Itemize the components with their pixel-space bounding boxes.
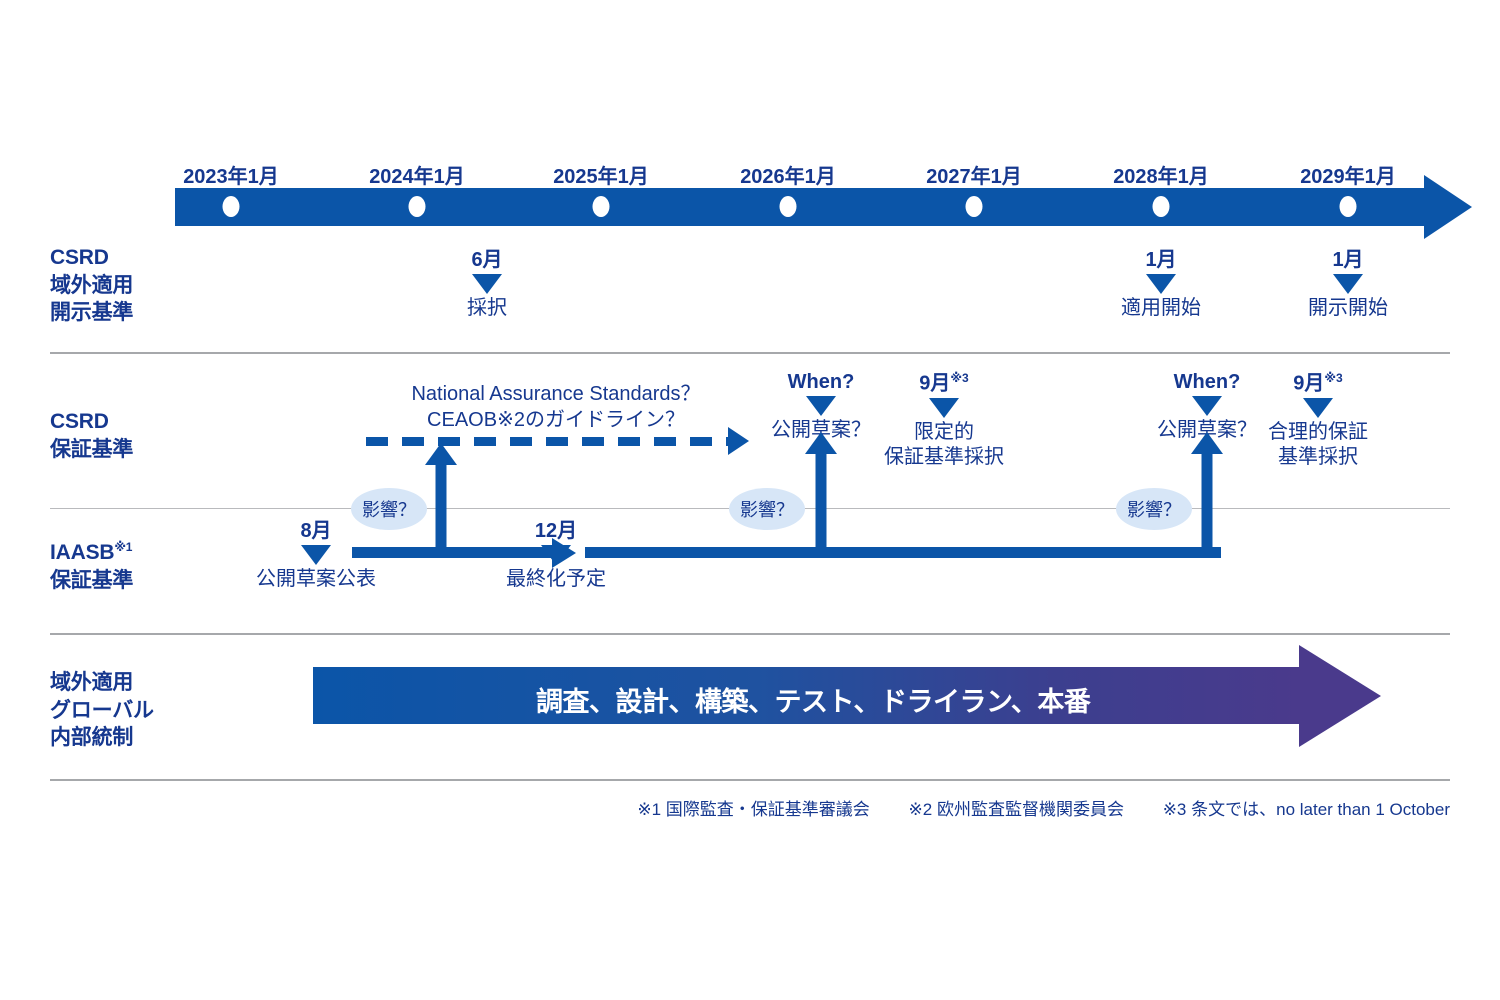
triangle-down-icon: [1146, 274, 1176, 294]
timeline-tick-label-2024: 2024年1月: [369, 160, 465, 189]
footnote-ref-1: ※1: [114, 540, 132, 554]
event-marker-finalization-planned: 12月 最終化予定: [506, 521, 606, 593]
timeline-tick-dot-2023: [223, 196, 240, 217]
global-program-arrow-head: [1299, 645, 1381, 747]
row-label-csrd-assurance: CSRD 保証基準: [50, 408, 133, 463]
footnote-1: ※1 国際監査・保証基準審議会: [637, 800, 869, 819]
triangle-down-icon: [301, 545, 331, 565]
event-marker-adoption: 6月 採択: [467, 250, 507, 322]
footnotes: ※1 国際監査・保証基準審議会 ※2 欧州監査監督機関委員会 ※3 条文では、n…: [50, 795, 1450, 820]
event-date-disclosure-start: 1月: [1308, 250, 1388, 271]
event-label-limited-assurance: 限定的 保証基準採択: [884, 420, 1004, 471]
triangle-down-icon: [1303, 398, 1333, 418]
triangle-down-icon: [1333, 274, 1363, 294]
event-marker-application-start: 1月 適用開始: [1121, 250, 1201, 322]
iaasb-flow-line-segment-2: [585, 547, 1221, 558]
dashed-connector-line: [366, 437, 728, 446]
timeline-axis-bar: [175, 188, 1430, 226]
footnote-2: ※2 欧州監査監督機関委員会: [909, 800, 1124, 819]
national-assurance-standards-caption: National Assurance Standards？ CEAOB※2のガイ…: [411, 381, 700, 433]
event-marker-limited-assurance: 9月※3 限定的 保証基準採択: [884, 372, 1004, 471]
row-separator-4: [50, 779, 1450, 781]
timeline-tick-dot-2026: [780, 196, 797, 217]
row-label-global-internal-control: 域外適用 グローバル 内部統制: [50, 669, 154, 752]
event-date-exposure-draft-2028: When?: [1157, 372, 1257, 393]
riser-line-2026: [816, 452, 827, 552]
triangle-down-icon: [541, 545, 571, 565]
event-label-finalization-planned: 最終化予定: [506, 567, 606, 593]
triangle-down-icon: [472, 274, 502, 294]
riser-arrowhead-2026: [805, 432, 837, 454]
influence-bubble-2: 影響？: [729, 488, 805, 530]
timeline-tick-dot-2027: [966, 196, 983, 217]
triangle-down-icon: [929, 398, 959, 418]
event-marker-exposure-draft-published: 8月 公開草案公表: [256, 521, 376, 593]
event-marker-disclosure-start: 1月 開示開始: [1308, 250, 1388, 322]
timeline-tick-label-2025: 2025年1月: [553, 160, 649, 189]
event-date-application-start: 1月: [1121, 250, 1201, 271]
triangle-down-icon: [806, 396, 836, 416]
event-label-exposure-draft-published: 公開草案公表: [256, 567, 376, 593]
timeline-tick-label-2029: 2029年1月: [1300, 160, 1396, 189]
influence-bubble-3: 影響？: [1116, 488, 1192, 530]
event-label-application-start: 適用開始: [1121, 296, 1201, 322]
timeline-axis-arrowhead: [1424, 175, 1472, 239]
event-label-adoption: 採択: [467, 296, 507, 322]
event-marker-reasonable-assurance: 9月※3 合理的保証 基準採択: [1268, 372, 1368, 471]
timeline-tick-dot-2024: [409, 196, 426, 217]
timeline-tick-dot-2029: [1340, 196, 1357, 217]
event-date-reasonable-assurance: 9月※3: [1268, 372, 1368, 395]
timeline-tick-dot-2028: [1153, 196, 1170, 217]
footnote-ref-3: ※3: [950, 371, 968, 385]
timeline-tick-label-2023: 2023年1月: [183, 160, 279, 189]
dashed-connector-arrowhead: [728, 427, 749, 455]
footnote-ref-3: ※3: [1324, 371, 1342, 385]
event-label-reasonable-assurance: 合理的保証 基準採択: [1268, 420, 1368, 471]
event-date-exposure-draft-2026: When?: [771, 372, 871, 393]
event-date-finalization-planned: 12月: [506, 521, 606, 542]
event-date-limited-assurance: 9月※3: [884, 372, 1004, 395]
timeline-tick-label-2026: 2026年1月: [740, 160, 836, 189]
row-separator-3: [50, 633, 1450, 635]
triangle-down-icon: [1192, 396, 1222, 416]
event-label-disclosure-start: 開示開始: [1308, 296, 1388, 322]
timeline-diagram: 2023年1月 2024年1月 2025年1月 2026年1月 2027年1月 …: [0, 0, 1500, 1000]
row-label-iaasb-assurance: IAASB※1保証基準: [50, 539, 133, 594]
riser-arrowhead-2028: [1191, 432, 1223, 454]
event-date-adoption: 6月: [467, 250, 507, 271]
riser-line-2028: [1202, 452, 1213, 552]
row-label-csrd-disclosure: CSRD 域外適用 開示基準: [50, 244, 133, 327]
global-program-arrow-label: 調査、設計、構築、テスト、ドライラン、本番: [536, 680, 1090, 719]
timeline-tick-label-2028: 2028年1月: [1113, 160, 1209, 189]
riser-arrowhead-2024: [425, 443, 457, 465]
riser-line-2024: [436, 462, 447, 552]
timeline-tick-dot-2025: [593, 196, 610, 217]
row-separator-1: [50, 352, 1450, 354]
footnote-3: ※3 条文では、no later than 1 October: [1163, 800, 1450, 819]
timeline-tick-label-2027: 2027年1月: [926, 160, 1022, 189]
event-date-exposure-draft-published: 8月: [256, 521, 376, 542]
